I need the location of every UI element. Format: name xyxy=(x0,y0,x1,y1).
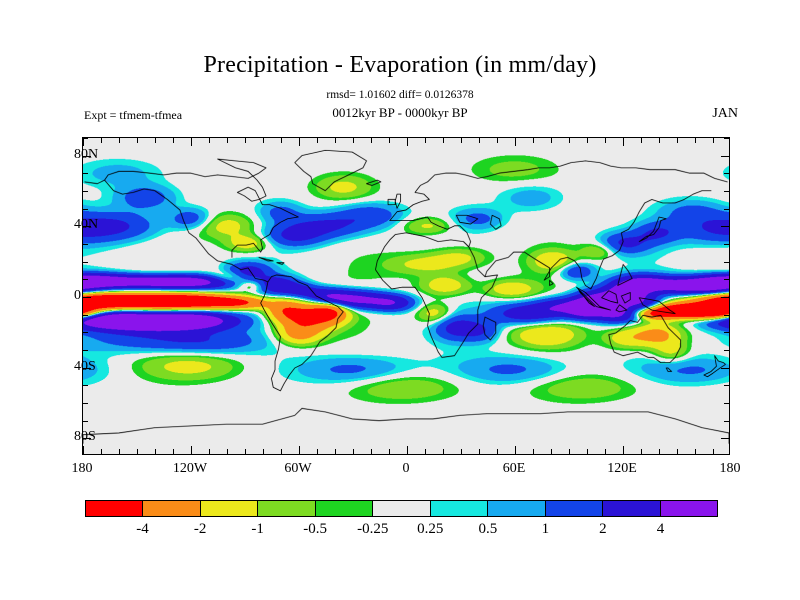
axis-tick xyxy=(724,209,729,210)
axis-tick xyxy=(353,449,354,454)
axis-tick xyxy=(407,138,408,146)
axis-tick xyxy=(209,449,210,454)
axis-tick xyxy=(605,138,606,143)
axis-tick xyxy=(155,449,156,454)
colorbar-band-blue xyxy=(545,501,602,516)
axis-tick xyxy=(101,138,102,143)
axis-tick xyxy=(227,449,228,454)
axis-tick xyxy=(317,138,318,143)
colorbar-tick-label-0: -4 xyxy=(136,521,149,538)
axis-tick xyxy=(587,138,588,143)
axis-tick xyxy=(569,449,570,454)
colorbar-tick-label-4: -0.25 xyxy=(357,521,388,538)
axis-tick xyxy=(724,421,729,422)
axis-tick xyxy=(425,449,426,454)
axis-tick xyxy=(443,138,444,143)
axis-tick xyxy=(425,138,426,143)
x-axis-tick-label-1: 120W xyxy=(173,461,207,477)
axis-tick xyxy=(497,138,498,143)
axis-tick xyxy=(724,403,729,404)
axis-tick xyxy=(695,138,696,143)
x-axis-tick-label-0: 180 xyxy=(72,461,93,477)
axis-tick xyxy=(695,449,696,454)
colorbar-band-purple xyxy=(660,501,717,516)
axis-tick xyxy=(551,138,552,143)
experiment-annotation: Expt = tfmem-tfmea xyxy=(84,108,182,123)
axis-tick xyxy=(479,449,480,454)
axis-tick xyxy=(83,244,88,245)
axis-tick xyxy=(83,173,88,174)
axis-tick xyxy=(641,138,642,143)
colorbar-tick-label-5: 0.25 xyxy=(417,521,443,538)
axis-tick xyxy=(533,138,534,143)
axis-tick xyxy=(209,138,210,143)
axis-tick xyxy=(281,138,282,143)
colorbar-band-light-blue xyxy=(487,501,544,516)
axis-tick xyxy=(443,449,444,454)
axis-tick xyxy=(659,138,660,143)
x-axis-tick-label-4: 60E xyxy=(503,461,526,477)
axis-tick xyxy=(83,350,88,351)
axis-tick xyxy=(724,244,729,245)
axis-tick xyxy=(119,449,120,454)
axis-tick xyxy=(83,446,84,454)
colorbar-band-yellow xyxy=(200,501,257,516)
colorbar-band-red xyxy=(86,501,142,516)
axis-tick xyxy=(101,449,102,454)
axis-tick xyxy=(353,138,354,143)
axis-tick xyxy=(605,449,606,454)
colorbar-band-orange xyxy=(142,501,199,516)
statistics-annotation: rmsd= 1.01602 diff= 0.0126378 xyxy=(0,89,800,101)
x-axis-tick-label-5: 120E xyxy=(607,461,637,477)
map-plot-area xyxy=(82,137,730,455)
colorbar-tick-label-7: 1 xyxy=(542,521,550,538)
colorbar-tick-label-9: 4 xyxy=(657,521,665,538)
axis-tick xyxy=(724,262,729,263)
axis-tick xyxy=(724,350,729,351)
axis-tick xyxy=(155,138,156,143)
axis-tick xyxy=(227,138,228,143)
colorbar-band-neutral-gray xyxy=(372,501,429,516)
axis-tick xyxy=(173,138,174,143)
colorbar-tick-label-6: 0.5 xyxy=(478,521,497,538)
map-field-canvas xyxy=(83,138,729,454)
axis-tick xyxy=(623,138,624,146)
axis-tick xyxy=(335,138,336,143)
axis-tick xyxy=(497,449,498,454)
colorbar-tick-label-3: -0.5 xyxy=(303,521,327,538)
axis-tick xyxy=(83,385,88,386)
axis-tick xyxy=(515,138,516,146)
axis-tick xyxy=(721,438,729,439)
axis-tick xyxy=(551,449,552,454)
axis-tick xyxy=(299,138,300,146)
axis-tick xyxy=(371,449,372,454)
axis-tick xyxy=(724,279,729,280)
x-axis-tick-label-6: 180 xyxy=(720,461,741,477)
axis-tick xyxy=(83,403,88,404)
axis-tick xyxy=(721,297,729,298)
axis-tick xyxy=(724,191,729,192)
axis-tick xyxy=(587,449,588,454)
axis-tick xyxy=(83,209,88,210)
axis-tick xyxy=(83,191,88,192)
axis-tick xyxy=(119,138,120,143)
axis-tick xyxy=(191,446,192,454)
axis-tick xyxy=(461,138,462,143)
axis-tick xyxy=(83,332,88,333)
axis-tick xyxy=(83,421,88,422)
axis-tick xyxy=(335,449,336,454)
axis-tick xyxy=(389,138,390,143)
climate-map-figure: Precipitation - Evaporation (in mm/day) … xyxy=(0,0,800,600)
axis-tick xyxy=(569,138,570,143)
axis-tick xyxy=(83,262,88,263)
axis-tick xyxy=(713,449,714,454)
axis-tick xyxy=(263,138,264,143)
axis-tick xyxy=(479,138,480,143)
axis-tick xyxy=(83,138,88,139)
axis-tick xyxy=(677,449,678,454)
colorbar-band-green xyxy=(315,501,372,516)
axis-tick xyxy=(245,138,246,143)
axis-tick xyxy=(533,449,534,454)
axis-tick xyxy=(83,315,88,316)
axis-tick xyxy=(677,138,678,143)
axis-tick xyxy=(317,449,318,454)
colorbar-band-cyan xyxy=(430,501,487,516)
axis-tick xyxy=(137,449,138,454)
axis-tick xyxy=(299,446,300,454)
axis-tick xyxy=(461,449,462,454)
axis-tick xyxy=(83,138,84,146)
x-axis-tick-label-3: 0 xyxy=(403,461,410,477)
axis-tick xyxy=(721,368,729,369)
axis-tick xyxy=(724,385,729,386)
colorbar-band-dark-blue xyxy=(602,501,659,516)
axis-tick xyxy=(721,156,729,157)
axis-tick xyxy=(191,138,192,146)
axis-tick xyxy=(721,226,729,227)
axis-tick xyxy=(173,449,174,454)
axis-tick xyxy=(724,173,729,174)
axis-tick xyxy=(83,297,91,298)
axis-tick xyxy=(724,315,729,316)
colorbar-tick-label-1: -2 xyxy=(194,521,207,538)
axis-tick xyxy=(281,449,282,454)
axis-tick xyxy=(713,138,714,143)
axis-tick xyxy=(389,449,390,454)
colorbar-band-yellow-green xyxy=(257,501,314,516)
axis-tick xyxy=(623,446,624,454)
axis-tick xyxy=(515,446,516,454)
axis-tick xyxy=(245,449,246,454)
colorbar xyxy=(85,500,718,517)
axis-tick xyxy=(724,138,729,139)
axis-tick xyxy=(641,449,642,454)
axis-tick xyxy=(407,446,408,454)
colorbar-tick-label-2: -1 xyxy=(251,521,264,538)
x-axis-tick-label-2: 60W xyxy=(284,461,311,477)
month-annotation: JAN xyxy=(712,106,738,122)
axis-tick xyxy=(83,279,88,280)
page-title: Precipitation - Evaporation (in mm/day) xyxy=(0,52,800,79)
axis-tick xyxy=(371,138,372,143)
axis-tick xyxy=(724,332,729,333)
colorbar-tick-label-8: 2 xyxy=(599,521,607,538)
axis-tick xyxy=(659,449,660,454)
axis-tick xyxy=(263,449,264,454)
axis-tick xyxy=(137,138,138,143)
